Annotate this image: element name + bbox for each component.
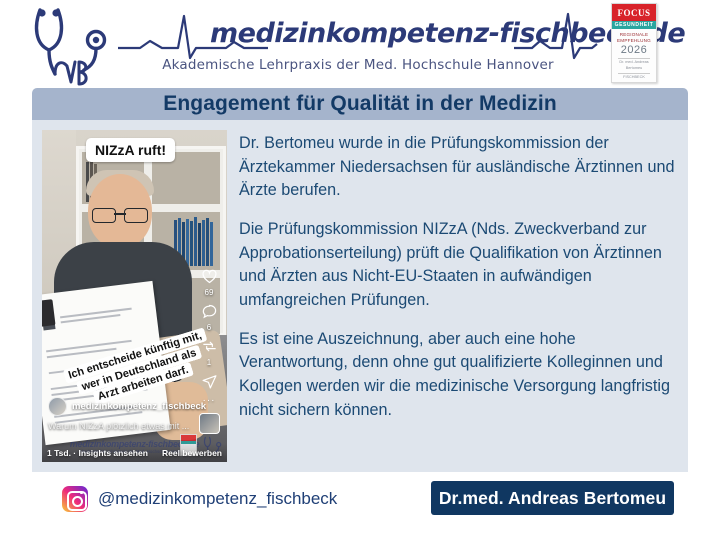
focus-divider-2	[618, 73, 650, 74]
instagram-handle-label[interactable]: @medizinkompetenz_fischbeck	[98, 489, 337, 509]
person-glasses	[92, 208, 148, 221]
brand-block: medizinkompetenz-fischbeck.de Akademisch…	[118, 8, 598, 84]
heart-icon[interactable]	[201, 268, 218, 285]
content-panel: NIZzA ruft! Ich entscheide künftig mit, …	[32, 120, 688, 472]
focus-category-label: GESUNDHEIT	[615, 22, 654, 28]
reel-promote-label[interactable]: Reel bewerben	[162, 448, 222, 458]
instagram-reel-preview[interactable]: NIZzA ruft! Ich entscheide künftig mit, …	[42, 130, 227, 462]
glasses-bridge	[114, 213, 126, 215]
page-footer: @medizinkompetenz_fischbeck Dr.med. Andr…	[0, 472, 720, 540]
page-header: medizinkompetenz-fischbeck.de Akademisch…	[0, 0, 720, 88]
instagram-icon[interactable]	[62, 486, 88, 512]
focus-divider-1	[618, 58, 650, 59]
slide-root: medizinkompetenz-fischbeck.de Akademisch…	[0, 0, 720, 540]
body-paragraph-2: Die Prüfungskommission NIZzA (Nds. Zweck…	[239, 218, 677, 313]
body-paragraph-1: Dr. Bertomeu wurde in die Prüfungskommis…	[239, 132, 677, 203]
focus-sub2: FISCHBECK	[614, 75, 654, 81]
reel-account-row[interactable]: medizinkompetenz_fischbeck	[48, 397, 206, 416]
slide-title-bar: Engagement für Qualität in der Medizin	[32, 88, 688, 120]
reel-caption-bubble: NIZzA ruft!	[86, 138, 175, 162]
share-count: 1	[207, 358, 211, 367]
presenter-name-badge: Dr.med. Andreas Bertomeu	[431, 481, 674, 515]
reel-insights-bar[interactable]: 1 Tsd. · Insights ansehen Reel bewerben	[42, 444, 227, 462]
focus-year: 2026	[614, 44, 654, 56]
presenter-name-label: Dr.med. Andreas Bertomeu	[439, 488, 666, 509]
focus-sub1: Dr. med. Andreas Bertomeu	[614, 60, 654, 71]
focus-line1: REGIONALE	[614, 32, 654, 38]
body-text-column: Dr. Bertomeu wurde in die Prüfungskommis…	[239, 132, 677, 422]
reel-description: Warum NIZzA plötzlich etwas mit ...	[48, 421, 189, 431]
like-count: 69	[205, 288, 214, 297]
focus-brand-strip: FOCUS	[612, 4, 656, 21]
practice-tagline: Akademische Lehrpraxis der Med. Hochschu…	[118, 57, 598, 73]
reel-views-label[interactable]: 1 Tsd. · Insights ansehen	[47, 448, 148, 458]
page-title: Engagement für Qualität in der Medizin	[163, 92, 557, 116]
send-icon[interactable]	[201, 373, 218, 390]
instagram-handle-chip[interactable]: @medizinkompetenz_fischbeck	[62, 486, 337, 512]
avatar	[48, 397, 67, 416]
repost-icon[interactable]	[201, 338, 218, 355]
body-paragraph-3: Es ist eine Auszeichnung, aber auch eine…	[239, 328, 677, 423]
comment-count: 6	[207, 323, 211, 332]
focus-badge-body: REGIONALE EMPFEHLUNG 2026 Dr. med. Andre…	[612, 29, 656, 83]
comment-icon[interactable]	[201, 303, 218, 320]
focus-category-strip: GESUNDHEIT	[612, 21, 656, 29]
reel-account-name[interactable]: medizinkompetenz_fischbeck	[72, 401, 206, 412]
focus-gesundheit-award-badge: FOCUS GESUNDHEIT REGIONALE EMPFEHLUNG 20…	[611, 3, 657, 83]
focus-line2: EMPFEHLUNG	[614, 38, 654, 44]
reel-audio-thumbnail[interactable]	[199, 413, 220, 434]
focus-brand-label: FOCUS	[617, 8, 650, 18]
stethoscope-ab-logo-icon	[22, 4, 114, 88]
